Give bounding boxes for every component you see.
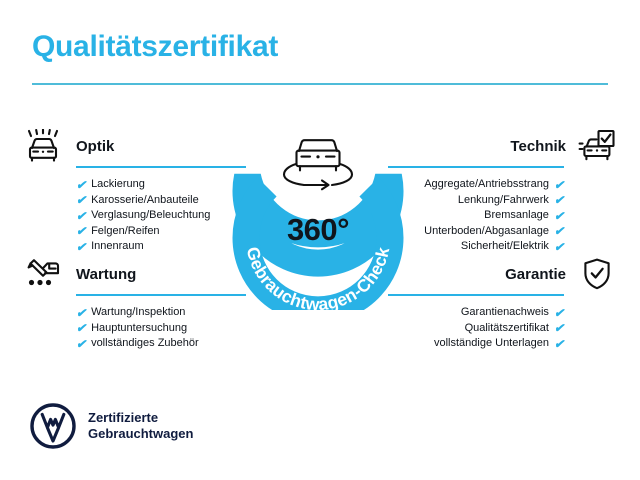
list-item-label: Karosserie/Anbauteile bbox=[91, 193, 199, 209]
footer-line-2: Gebrauchtwagen bbox=[88, 426, 193, 442]
check-icon: ✔ bbox=[76, 307, 86, 319]
section-title-wartung: Wartung bbox=[76, 266, 136, 283]
certificate-page: Qualitätszertifikat Optik ✔Lackierung bbox=[0, 0, 640, 480]
list-item-label: vollständige Unterlagen bbox=[434, 336, 549, 352]
list-item-label: Garantienachweis bbox=[461, 305, 549, 321]
badge-degrees-label: 360° bbox=[224, 212, 412, 248]
section-list-wartung: ✔Wartung/Inspektion ✔Hauptuntersuchung ✔… bbox=[76, 305, 252, 352]
check-icon: ✔ bbox=[76, 194, 86, 206]
list-item-label: Felgen/Reifen bbox=[91, 224, 160, 240]
360-check-badge: Gebrauchtwagen-Check 360° bbox=[224, 120, 412, 310]
section-technik: Technik Aggregate/Antriebsstrang✔ Lenkun… bbox=[388, 128, 618, 255]
list-item: Garantienachweis✔ bbox=[388, 305, 564, 321]
list-item: Unterboden/Abgasanlage✔ bbox=[388, 224, 564, 240]
list-item-label: Lenkung/Fahrwerk bbox=[458, 193, 549, 209]
list-item: Bremsanlage✔ bbox=[388, 208, 564, 224]
section-rule-optik bbox=[76, 166, 246, 168]
section-rule-wartung bbox=[76, 294, 246, 296]
check-icon: ✔ bbox=[554, 194, 564, 206]
section-list-technik: Aggregate/Antriebsstrang✔ Lenkung/Fahrwe… bbox=[388, 177, 564, 255]
car-shine-icon bbox=[22, 128, 64, 164]
list-item-label: Unterboden/Abgasanlage bbox=[424, 224, 549, 240]
page-title: Qualitätszertifikat bbox=[32, 30, 278, 64]
section-wartung: Wartung ✔Wartung/Inspektion ✔Hauptunters… bbox=[22, 256, 252, 352]
section-list-garantie: Garantienachweis✔ Qualitätszertifikat✔ v… bbox=[388, 305, 564, 352]
check-icon: ✔ bbox=[554, 179, 564, 191]
footer-line-1: Zertifizierte bbox=[88, 410, 193, 426]
footer-text: Zertifizierte Gebrauchtwagen bbox=[88, 410, 193, 442]
check-icon: ✔ bbox=[554, 322, 564, 334]
list-item: Sicherheit/Elektrik✔ bbox=[388, 239, 564, 255]
check-icon: ✔ bbox=[554, 338, 564, 350]
list-item: Qualitätszertifikat✔ bbox=[388, 321, 564, 337]
check-icon: ✔ bbox=[554, 307, 564, 319]
list-item: Lenkung/Fahrwerk✔ bbox=[388, 193, 564, 209]
list-item-label: Sicherheit/Elektrik bbox=[461, 239, 549, 255]
footer-brand: Zertifizierte Gebrauchtwagen bbox=[30, 403, 193, 449]
list-item-label: Wartung/Inspektion bbox=[91, 305, 185, 321]
car-rotation-icon bbox=[284, 140, 352, 189]
list-item-label: Qualitätszertifikat bbox=[465, 321, 549, 337]
list-item: ✔vollständiges Zubehör bbox=[76, 336, 252, 352]
list-item: ✔Hauptuntersuchung bbox=[76, 321, 252, 337]
check-icon: ✔ bbox=[554, 225, 564, 237]
shield-check-icon bbox=[576, 256, 618, 292]
list-item-label: Lackierung bbox=[91, 177, 145, 193]
list-item-label: Hauptuntersuchung bbox=[91, 321, 187, 337]
list-item-label: Bremsanlage bbox=[484, 208, 549, 224]
list-item-label: Innenraum bbox=[91, 239, 144, 255]
section-title-optik: Optik bbox=[76, 138, 114, 155]
section-optik: Optik ✔Lackierung ✔Karosserie/Anbauteile… bbox=[22, 128, 252, 255]
check-icon: ✔ bbox=[76, 322, 86, 334]
section-rule-garantie bbox=[388, 294, 564, 296]
check-icon: ✔ bbox=[554, 210, 564, 222]
section-title-technik: Technik bbox=[510, 138, 566, 155]
check-icon: ✔ bbox=[554, 241, 564, 253]
list-item-label: Verglasung/Beleuchtung bbox=[91, 208, 210, 224]
list-item-label: vollständiges Zubehör bbox=[91, 336, 199, 352]
section-title-garantie: Garantie bbox=[505, 266, 566, 283]
check-icon: ✔ bbox=[76, 179, 86, 191]
list-item: vollständige Unterlagen✔ bbox=[388, 336, 564, 352]
check-icon: ✔ bbox=[76, 338, 86, 350]
list-item-label: Aggregate/Antriebsstrang bbox=[424, 177, 549, 193]
check-icon: ✔ bbox=[76, 241, 86, 253]
section-garantie: Garantie Garantienachweis✔ Qualitätszert… bbox=[388, 256, 618, 352]
check-icon: ✔ bbox=[76, 225, 86, 237]
service-pen-car-icon bbox=[22, 256, 64, 292]
car-checkbox-icon bbox=[576, 128, 618, 164]
check-icon: ✔ bbox=[76, 210, 86, 222]
vw-logo-icon bbox=[30, 403, 76, 449]
header-divider bbox=[32, 83, 608, 85]
list-item: Aggregate/Antriebsstrang✔ bbox=[388, 177, 564, 193]
section-rule-technik bbox=[388, 166, 564, 168]
